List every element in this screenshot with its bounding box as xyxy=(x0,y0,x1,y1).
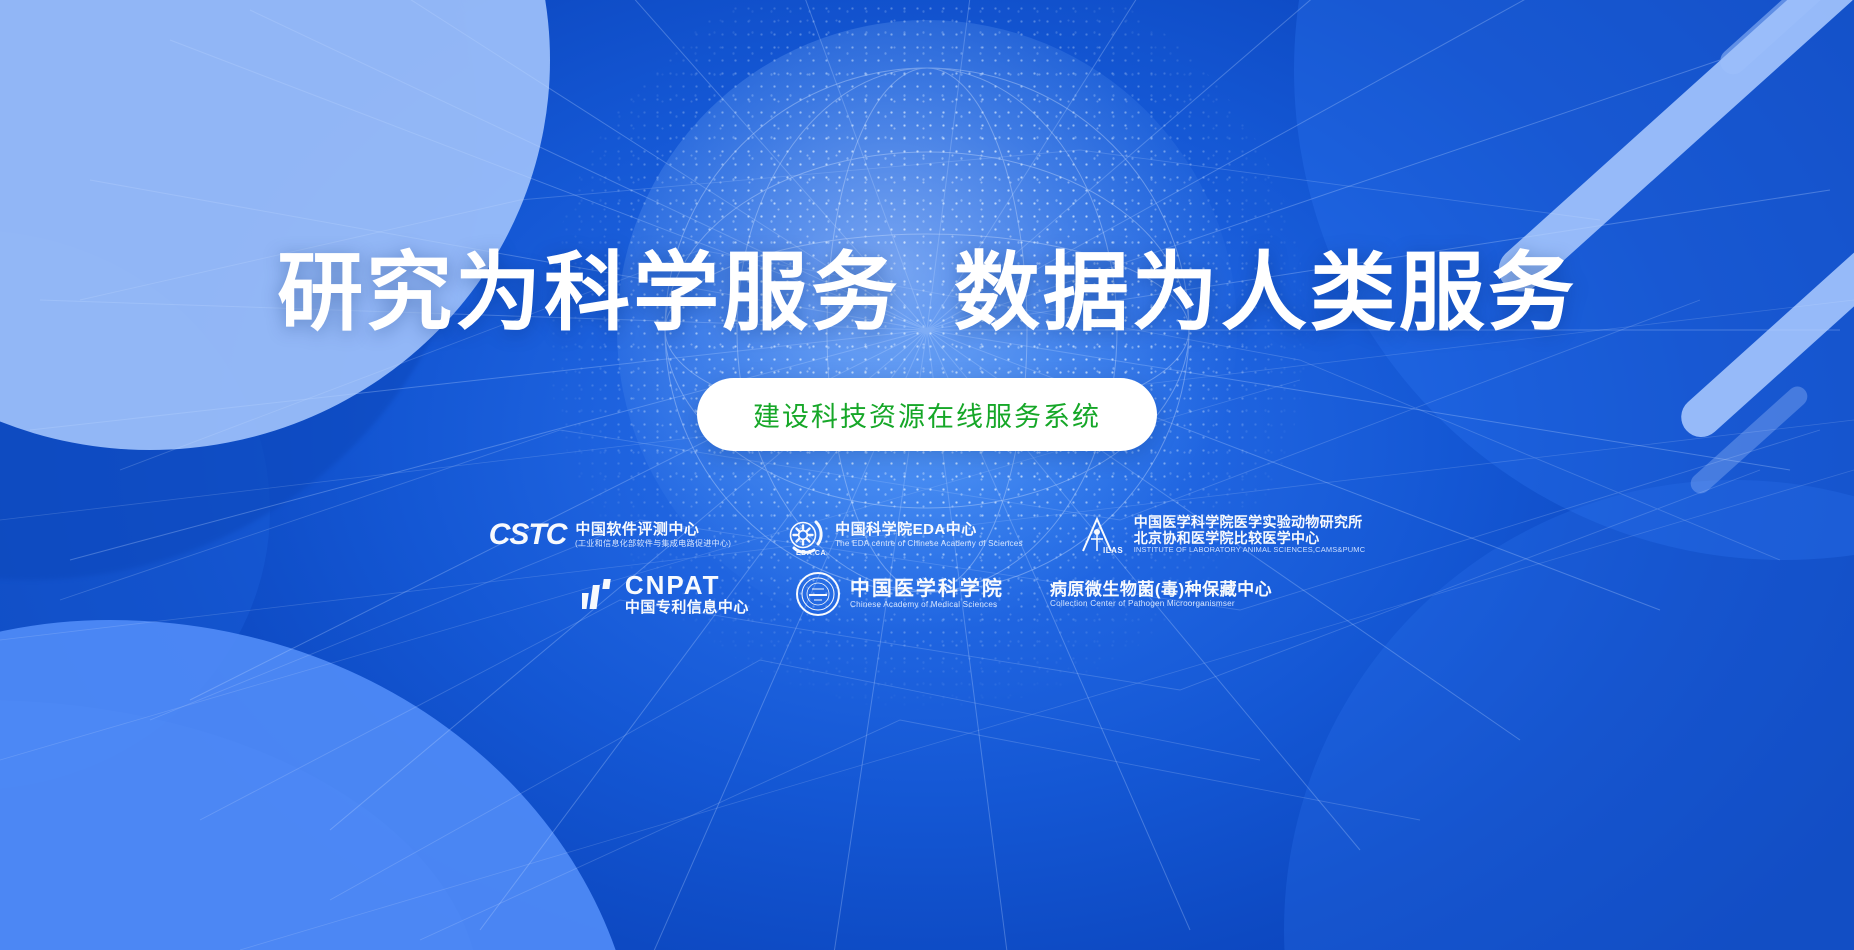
subtitle-text: 建设科技资源在线服务系统 xyxy=(753,402,1101,432)
cnpat-name-cn: 中国专利信息中心 xyxy=(625,600,749,617)
partner-logo-eda-cas[interactable]: EDA CAS 中国科学院EDA中心 The EDA centre of Chi… xyxy=(784,514,1031,556)
cstc-name-sub: (工业和信息化部软件与集成电路促进中心) xyxy=(575,539,731,548)
partner-logo-pathogen-collection[interactable]: 病原微生物菌(毒)种保藏中心 Collection Center of Path… xyxy=(1050,580,1272,609)
hero-banner: 研究为科学服务 数据为人类服务 建设科技资源在线服务系统 CSTC 中国软件评测… xyxy=(0,0,1854,950)
eda-cas-name-en: The EDA centre of Chinese Academy of Sci… xyxy=(835,539,1023,548)
cnpat-bars-icon xyxy=(582,577,616,611)
pathogen-name-en: Collection Center of Pathogen Microorgan… xyxy=(1050,599,1263,608)
ilas-name-cn: 中国医学科学院医学实验动物研究所 xyxy=(1134,515,1366,531)
ilas-monogram-icon: ILAS xyxy=(1077,513,1125,557)
cstc-logo-icon: CSTC xyxy=(489,518,567,552)
page-title: 研究为科学服务 数据为人类服务 xyxy=(277,250,1577,336)
cstc-wordmark: CSTC xyxy=(489,518,567,552)
subtitle-pill-button[interactable]: 建设科技资源在线服务系统 xyxy=(697,378,1157,451)
ilas-mark-label: ILAS xyxy=(1103,546,1123,555)
cnpat-wordmark: CNPAT xyxy=(625,571,749,600)
partner-logo-cams[interactable]: 中国医学科学院 Chinese Academy of Medical Scien… xyxy=(795,571,1004,617)
partner-logo-cstc[interactable]: CSTC 中国软件评测中心 (工业和信息化部软件与集成电路促进中心) xyxy=(489,518,738,552)
partner-logos: CSTC 中国软件评测中心 (工业和信息化部软件与集成电路促进中心) xyxy=(489,513,1366,617)
partner-logo-cnpat[interactable]: CNPAT 中国专利信息中心 xyxy=(582,571,749,617)
cams-name-cn: 中国医学科学院 xyxy=(850,578,1004,600)
pathogen-name-cn: 病原微生物菌(毒)种保藏中心 xyxy=(1050,580,1272,599)
eda-cas-name-cn: 中国科学院EDA中心 xyxy=(835,522,1031,539)
partner-logo-row-2: CNPAT 中国专利信息中心 xyxy=(582,571,1272,617)
ilas-name-en: INSTITUTE OF LABORATORY ANIMAL SCIENCES,… xyxy=(1134,546,1366,554)
eda-cas-mark-label: EDA CAS xyxy=(796,550,826,556)
cams-name-en: Chinese Academy of Medical Sciences xyxy=(850,601,998,610)
cstc-name-cn: 中国软件评测中心 xyxy=(575,522,738,539)
partner-logo-row-1: CSTC 中国软件评测中心 (工业和信息化部软件与集成电路促进中心) xyxy=(489,513,1366,557)
banner-content: 研究为科学服务 数据为人类服务 建设科技资源在线服务系统 CSTC 中国软件评测… xyxy=(0,0,1854,950)
eda-cas-gear-icon: EDA CAS xyxy=(784,514,826,556)
ilas-name-cn2: 北京协和医学院比较医学中心 xyxy=(1134,531,1366,547)
partner-logo-ilas-cams[interactable]: ILAS 中国医学科学院医学实验动物研究所 北京协和医学院比较医学中心 INST… xyxy=(1077,513,1366,557)
cams-seal-icon xyxy=(795,571,841,617)
